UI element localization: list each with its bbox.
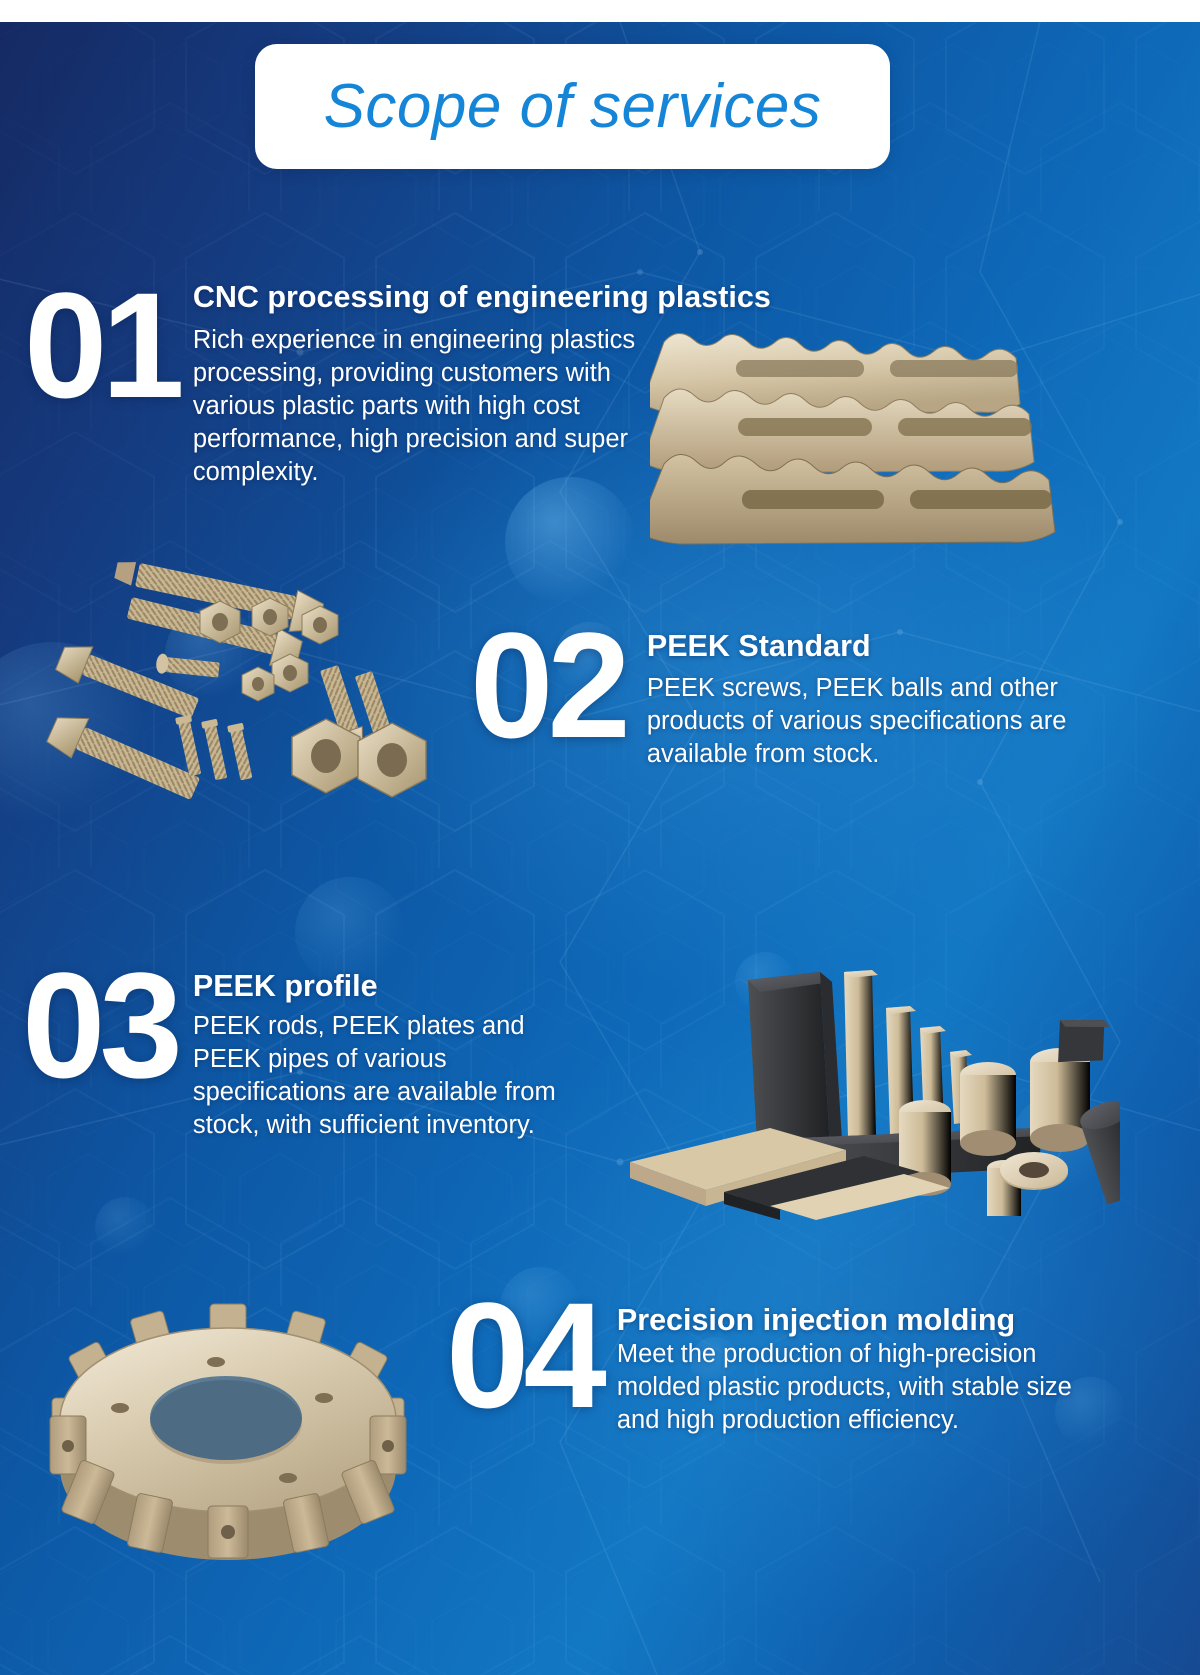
service-body-03: PEEK rods, PEEK plates and PEEK pipes of… (193, 1010, 593, 1143)
header-pill: Scope of services (255, 44, 890, 169)
service-body-04: Meet the production of high-precision mo… (617, 1338, 1072, 1437)
service-body-01: Rich experience in engineering plastics … (193, 324, 653, 490)
chain-plates-svg (650, 300, 1120, 570)
service-number-04: 04 (446, 1286, 601, 1424)
peek-screws-and-nuts-photo (40, 545, 470, 855)
page-title: Scope of services (324, 76, 822, 138)
cnc-machined-chain-plates-photo (650, 300, 1120, 570)
service-text-01: CNC processing of engineering plastics R… (193, 276, 653, 489)
bokeh-circle (95, 1197, 155, 1257)
service-title-04: Precision injection molding (617, 1304, 1072, 1338)
service-text-03: PEEK profile PEEK rods, PEEK plates and … (193, 956, 593, 1142)
service-title-02: PEEK Standard (647, 630, 1077, 664)
service-item-03: 03 PEEK profile PEEK rods, PEEK plates a… (22, 956, 642, 1142)
service-number-03: 03 (22, 956, 177, 1094)
injection-molded-sprocket-photo (40, 1270, 440, 1570)
sprocket-svg (40, 1270, 440, 1570)
service-body-02: PEEK screws, PEEK balls and other produc… (647, 672, 1077, 771)
rods-plates-tubes-svg (620, 900, 1120, 1220)
peek-rods-plates-tubes-photo (620, 900, 1120, 1220)
service-text-02: PEEK Standard PEEK screws, PEEK balls an… (647, 616, 1077, 771)
service-number-01: 01 (24, 276, 179, 414)
service-number-02: 02 (470, 616, 625, 754)
service-text-04: Precision injection molding Meet the pro… (617, 1286, 1072, 1437)
service-item-02: 02 PEEK Standard PEEK screws, PEEK balls… (470, 616, 1110, 771)
service-title-01: CNC processing of engineering plastics (193, 281, 653, 315)
service-item-04: 04 Precision injection molding Meet the … (446, 1286, 1126, 1437)
screws-nuts-svg (40, 545, 470, 855)
service-title-03: PEEK profile (193, 970, 593, 1004)
service-item-01: 01 CNC processing of engineering plastic… (24, 276, 684, 489)
bokeh-circle (505, 477, 635, 607)
